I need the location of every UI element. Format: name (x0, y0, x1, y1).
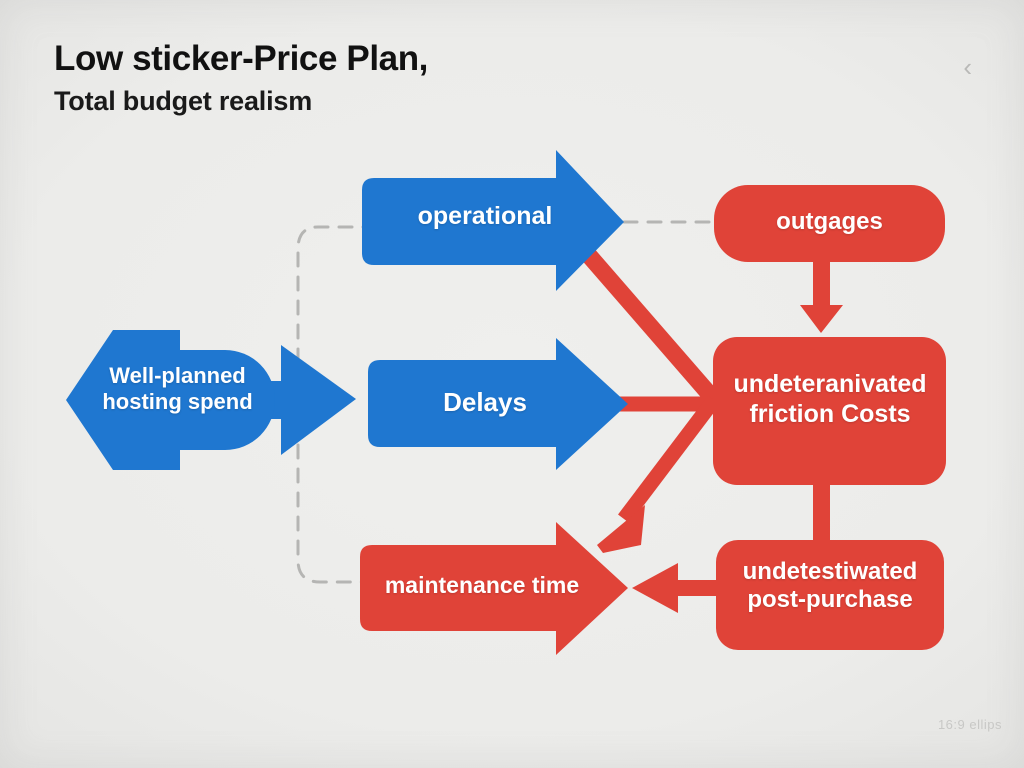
connector-friction-to-maintenance-line (624, 400, 714, 519)
shape-input-spend-body-fill (160, 350, 220, 450)
watermark-text: 16:9 ellips (938, 717, 1002, 732)
shape-input-spend-right-head[interactable] (281, 345, 356, 455)
shape-friction-costs-box[interactable] (713, 337, 946, 485)
slide-canvas: Well-planned hosting spend operational D… (0, 0, 1024, 768)
chevron-left-icon[interactable]: ‹ (963, 52, 972, 83)
connector-friction-to-post-purchase (813, 480, 830, 542)
arrowhead-post-to-maintenance (632, 563, 678, 613)
shape-maintenance-time-arrow[interactable] (360, 522, 628, 655)
arrowhead-outgages-to-friction (800, 305, 843, 333)
connector-operational-to-friction (586, 252, 718, 404)
title-block: Low sticker-Price Plan, Total budget rea… (54, 40, 428, 117)
connector-outgages-to-friction-line (813, 262, 830, 310)
shape-outgages-box[interactable] (714, 185, 945, 262)
shape-post-purchase-box[interactable] (716, 540, 944, 650)
slide-title: Low sticker-Price Plan, (54, 40, 428, 78)
slide-subtitle: Total budget realism (54, 86, 428, 117)
shape-delays-arrow[interactable] (368, 338, 628, 470)
shape-operational-arrow[interactable] (362, 150, 624, 291)
